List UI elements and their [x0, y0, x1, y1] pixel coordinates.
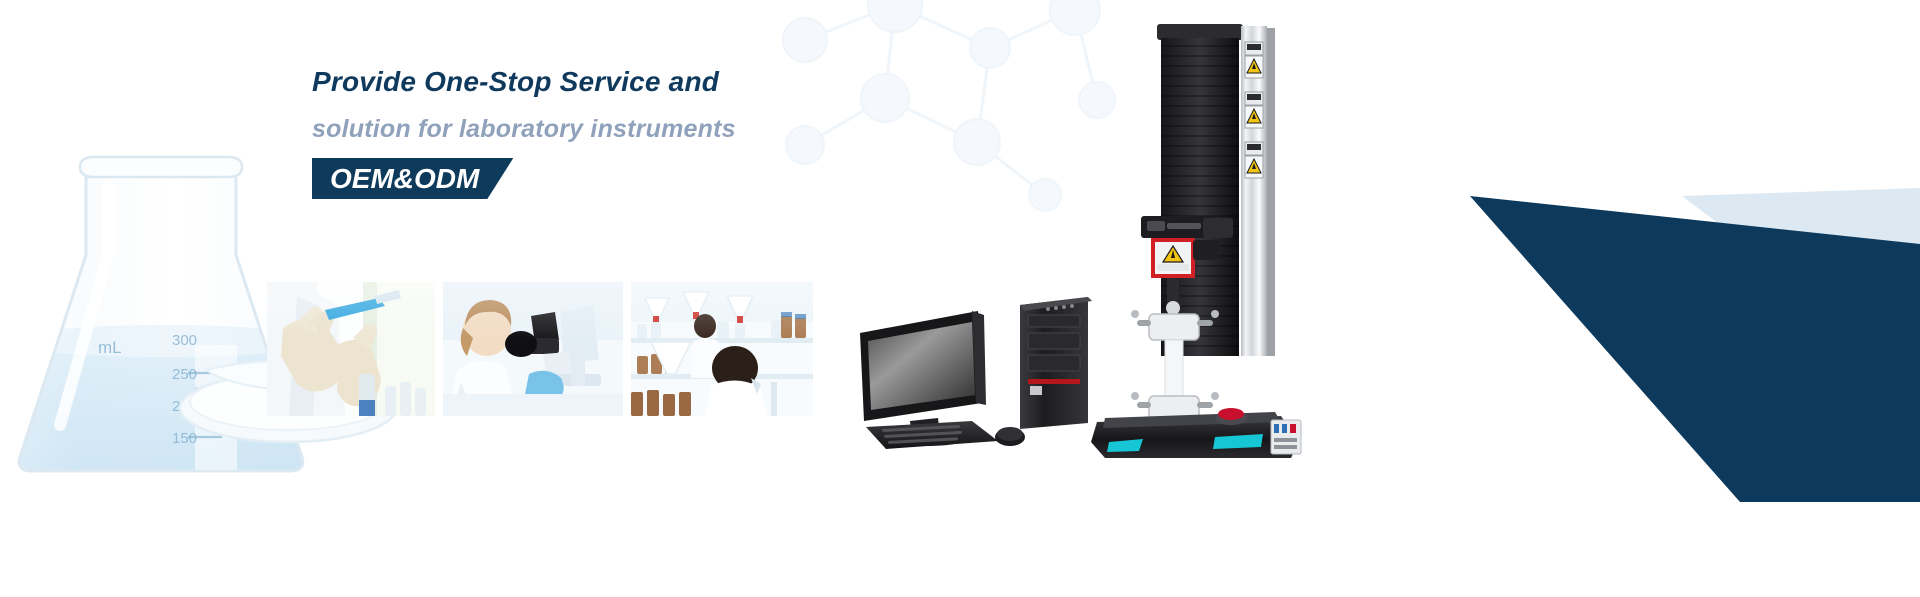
tower-accent-stripe: [1028, 379, 1080, 384]
universal-tensile-testing-machine: [1085, 18, 1385, 458]
headline-line-2: solution for laboratory instruments: [312, 106, 952, 152]
oem-odm-badge: OEM&ODM: [312, 158, 513, 199]
headline-line-1: Provide One-Stop Service and: [312, 58, 952, 106]
emergency-stop-button[interactable]: [1218, 408, 1244, 420]
warning-triangle-label: [1245, 42, 1263, 178]
flask-ml-label: mL: [98, 338, 122, 357]
photo-microscope: [443, 282, 623, 416]
headline-block: Provide One-Stop Service and solution fo…: [312, 58, 952, 199]
photo-pipetting: [267, 282, 435, 416]
hero-banner: 300 250 200 150 mL Provide One-Stop Serv…: [0, 0, 1920, 597]
dark-navy-arrow-shape: [1470, 192, 1920, 502]
photo-lab-team: [631, 282, 813, 416]
photo-strip: [267, 282, 813, 416]
